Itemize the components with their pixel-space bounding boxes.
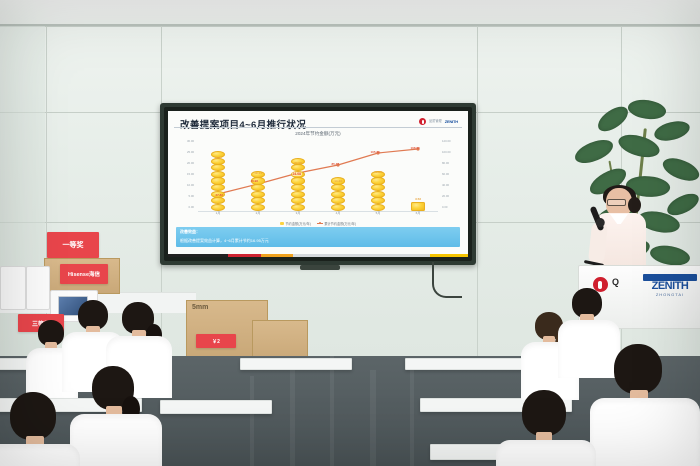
presenter-hair-bun (628, 197, 641, 213)
legend-swatch-icon (280, 222, 284, 225)
banner-body: 根据改善提案效益计算，4~6月累计节约16.95万元 (180, 238, 456, 244)
coin-stack (291, 158, 305, 211)
coin-stack (371, 171, 385, 211)
y-tick-left: 15.00 (187, 172, 194, 176)
line-value-label: 85.47 (332, 162, 340, 166)
conference-room-scene: 改善提案项目4~6月推行状况 品质管理 ZENITH 2024年节约金额(万元)… (0, 0, 700, 466)
bar-value-label: 27.82 (214, 156, 222, 160)
desk (160, 400, 272, 414)
highlight-value-badge: 24.08 (292, 172, 303, 176)
slide-title: 改善提案项目4~6月推行状况 (180, 117, 306, 131)
slide-content: 改善提案项目4~6月推行状况 品质管理 ZENITH 2024年节约金额(万元)… (168, 111, 468, 257)
chart-subtitle: 2024年节约金额(万元) (168, 131, 468, 137)
x-tick-label: 1月 (212, 211, 225, 219)
y-axis-left: 30.00 25.00 20.00 15.00 10.00 5.00 0.00 (176, 139, 194, 211)
partner-logo-text: ZENITH (643, 281, 697, 292)
bar-value-label: 19.14 (254, 171, 262, 175)
bar-column: 19.14 46.96 (252, 139, 265, 211)
chart: 30.00 25.00 20.00 15.00 10.00 5.00 0.00 … (172, 139, 464, 217)
bar-value-label: 19.83 (374, 170, 382, 174)
bar-column: 14.43 85.47 (332, 139, 345, 211)
partner-logo-label: ZENITH (445, 119, 458, 124)
screen-stand (300, 265, 340, 270)
glasses-icon (607, 199, 626, 206)
banner-heading: 改善效益： (180, 229, 456, 235)
line-value-label: 46.96 (251, 179, 259, 183)
screen-cable (432, 262, 462, 298)
legend-label: 节约金额(万元/年) (285, 221, 310, 226)
title-divider (174, 127, 462, 128)
bar-series: 27.82 27.82 19.14 46.96 (198, 139, 438, 211)
y-tick-right: 80.00 (442, 161, 449, 165)
bar-column: 24.08 24.08 (292, 139, 305, 211)
x-tick-label: 3月 (292, 211, 305, 219)
podium-brand-label: Q (612, 277, 619, 287)
coin-stack (211, 152, 225, 211)
bar-column: 19.83 105.30 (372, 139, 385, 211)
y-tick-right: 0.00 (442, 205, 447, 209)
slide-footer-bar (168, 254, 468, 257)
prize-card-first: 一等奖 (47, 232, 99, 258)
bar-value-label: 24.08 (294, 161, 302, 165)
line-value-label: 105.30 (371, 150, 380, 154)
product-box-price-tag: ￥2 (196, 334, 236, 348)
y-tick-left: 30.00 (187, 139, 194, 143)
partner-logo-sub: ZHONGTAI (643, 292, 697, 297)
y-tick-left: 0.00 (189, 205, 194, 209)
y-tick-left: 10.00 (187, 183, 194, 187)
x-tick-label: 2月 (252, 211, 265, 219)
prize-box-label: Hisense海信 (60, 264, 108, 284)
bar-value-label: 3.53 (415, 197, 421, 201)
y-tick-right: 120.00 (442, 139, 451, 143)
bar-column: 3.53 108.83 (412, 139, 425, 211)
prize-white-box-a (0, 266, 26, 310)
q-circle-logo-icon (419, 118, 426, 125)
y-tick-left: 20.00 (187, 161, 194, 165)
benefit-banner: 改善效益： 根据改善提案效益计算，4~6月累计节约16.95万元 (176, 227, 460, 247)
x-tick-label: 6月 (412, 211, 425, 219)
x-axis: 1月 2月 3月 4月 5月 6月 (198, 211, 438, 219)
brand-sub-label: 品质管理 (429, 120, 442, 124)
plot-area: 27.82 27.82 19.14 46.96 (198, 139, 438, 211)
product-box-brand: 5mm (192, 304, 208, 311)
prize-white-box-b (26, 266, 50, 310)
presentation-screen: 改善提案项目4~6月推行状况 品质管理 ZENITH 2024年节约金额(万元)… (160, 103, 476, 265)
y-tick-right: 20.00 (442, 194, 449, 198)
coin-stack (251, 171, 265, 211)
coin-stack (411, 203, 425, 211)
bar-column: 27.82 27.82 (212, 139, 225, 211)
podium-partner-logo: ZENITH ZHONGTAI (643, 274, 697, 297)
line-value-label: 108.83 (411, 146, 420, 150)
legend-label: 累计节约金额(万元/年) (324, 221, 356, 226)
line-value-label: 27.82 (216, 193, 224, 197)
legend-line-icon (317, 223, 323, 224)
legend-item-line: 累计节约金额(万元/年) (317, 221, 356, 226)
y-tick-right: 40.00 (442, 183, 449, 187)
desk (240, 358, 352, 370)
bar-value-label: 14.43 (334, 179, 342, 183)
y-tick-left: 5.00 (189, 194, 194, 198)
x-tick-label: 4月 (332, 211, 345, 219)
y-tick-right: 100.00 (442, 150, 451, 154)
slide-logos: 品质管理 ZENITH (419, 118, 458, 125)
y-tick-left: 25.00 (187, 150, 194, 154)
ceiling (0, 0, 700, 26)
desk (405, 358, 527, 370)
chart-legend: 节约金额(万元/年) 累计节约金额(万元/年) (168, 221, 468, 226)
x-tick-label: 5月 (372, 211, 385, 219)
legend-item-bar: 节约金额(万元/年) (280, 221, 311, 226)
y-tick-right: 60.00 (442, 172, 449, 176)
y-axis-right: 120.00 100.00 80.00 60.00 40.00 20.00 0.… (442, 139, 460, 211)
